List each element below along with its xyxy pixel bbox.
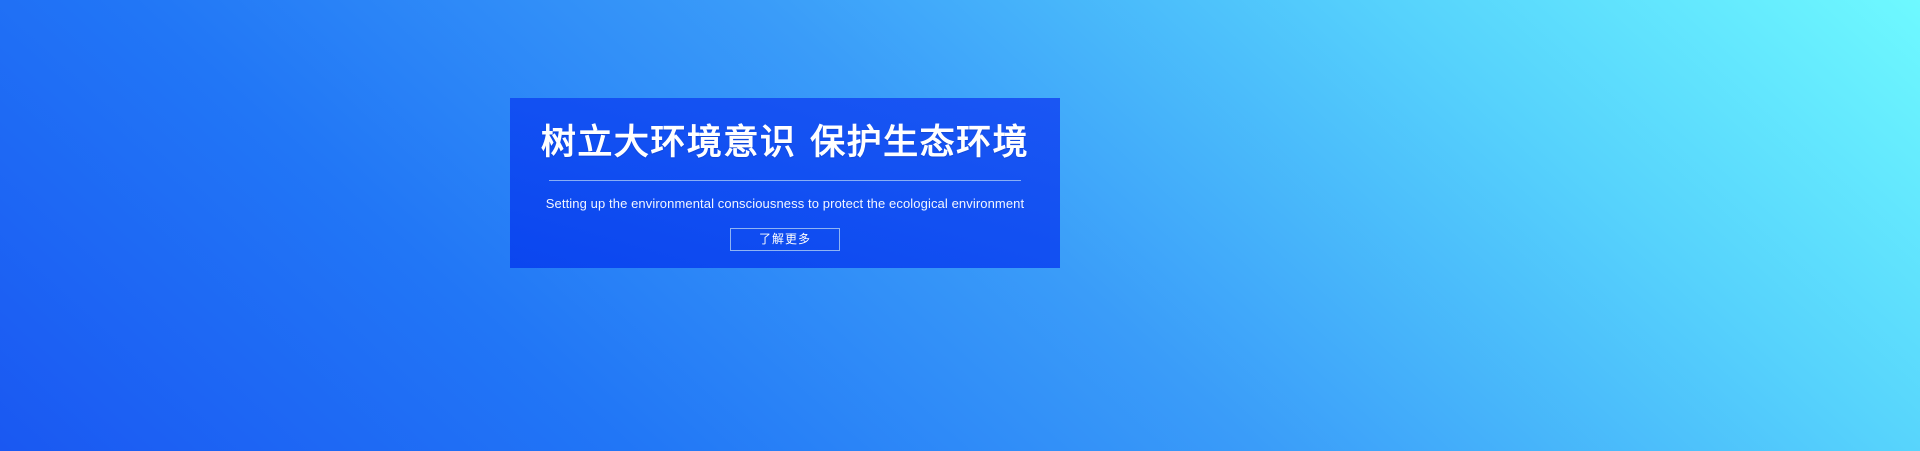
hero-content-card: 树立大环境意识 保护生态环境 Setting up the environmen… xyxy=(510,98,1060,268)
title-divider xyxy=(549,180,1021,181)
learn-more-button[interactable]: 了解更多 xyxy=(730,228,840,251)
hero-subtitle: Setting up the environmental consciousne… xyxy=(546,196,1024,213)
hero-banner: 树立大环境意识 保护生态环境 Setting up the environmen… xyxy=(0,0,1920,451)
page-title: 树立大环境意识 保护生态环境 xyxy=(541,124,1029,163)
